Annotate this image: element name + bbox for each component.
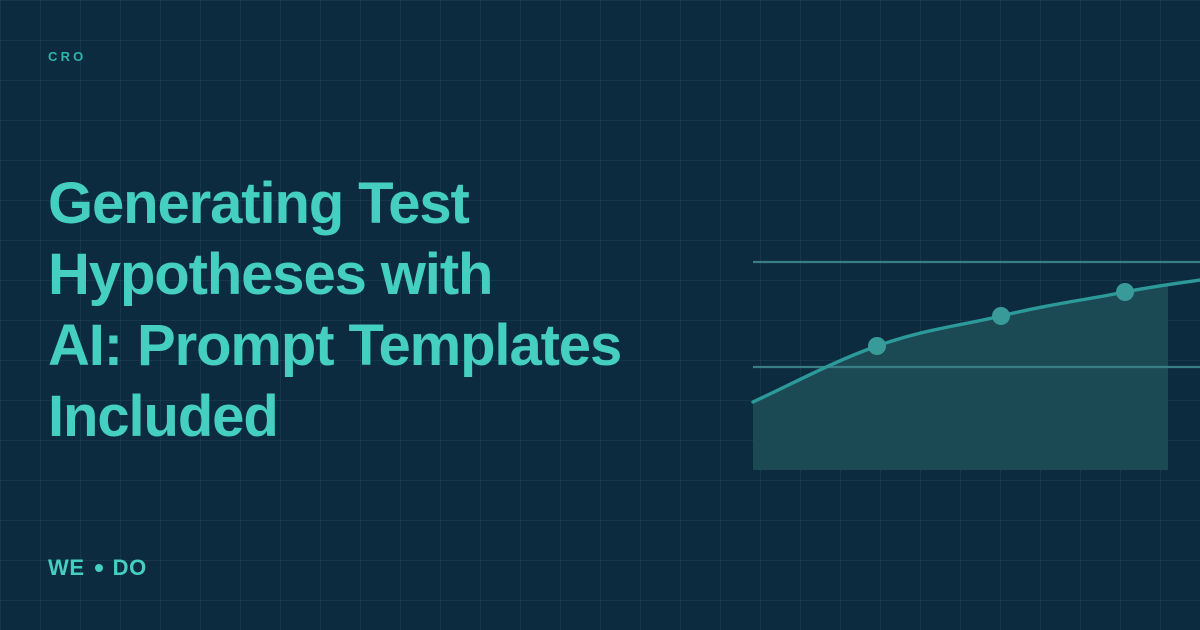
chart-data-point-2 (992, 307, 1010, 325)
page-title-line-2: Hypotheses with (48, 239, 668, 310)
chart-data-point-1 (868, 337, 886, 355)
page-title-line-4: Included (48, 381, 668, 452)
brand-separator-dot-icon (95, 564, 103, 572)
chart-data-point-3 (1116, 283, 1134, 301)
page-title-line-1: Generating Test (48, 168, 668, 239)
brand-word-we: WE (48, 554, 85, 582)
social-card-canvas: CRO Generating Test Hypotheses with AI: … (0, 0, 1200, 630)
page-title: Generating Test Hypotheses with AI: Prom… (48, 168, 668, 452)
brand-word-do: DO (113, 554, 147, 582)
growth-area-chart (740, 230, 1200, 480)
chart-area-fill (753, 283, 1168, 470)
brand-logo: WE DO (48, 554, 147, 582)
growth-area-chart-svg (740, 230, 1200, 480)
category-eyebrow-label: CRO (48, 46, 87, 68)
page-title-line-3: AI: Prompt Templates (48, 310, 668, 381)
